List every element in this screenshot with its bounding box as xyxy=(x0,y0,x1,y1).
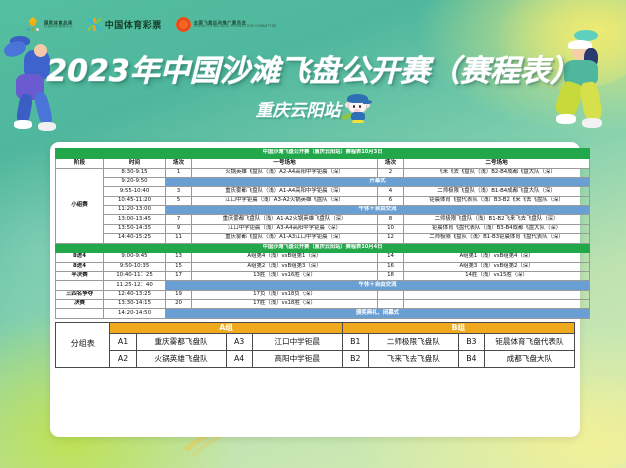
olympic-rings-icon xyxy=(26,17,41,32)
match-no-cell: 14 xyxy=(378,253,404,262)
section-title-day2: 中国沙滩飞盘公开赛（重庆云阳站）赛程表10月4日 xyxy=(56,243,590,253)
page-title-wrap: 2023年中国沙滩飞盘公开赛（赛程表） xyxy=(0,46,626,90)
page-title: 2023年中国沙滩飞盘公开赛（赛程表） xyxy=(46,54,580,89)
schedule-section-title-row: 中国沙滩飞盘公开赛（重庆云阳站）赛程表10月4日 xyxy=(56,243,590,253)
group-a-header: A组 xyxy=(110,322,342,333)
schedule-row: 11:20-13:00午休＋自由交流 xyxy=(56,206,590,215)
break-cell: 开幕式 xyxy=(166,177,590,186)
match-no-cell: 15 xyxy=(166,262,192,271)
team-code: B1 xyxy=(342,333,368,350)
time-cell: 13:30-14:15 xyxy=(104,300,166,309)
field2-cell: 钜晨体育飞盘代表队（浅）B3-B4成都飞盘大队（深） xyxy=(404,224,590,233)
field1-cell: A组第2（浅）vsB组第3（深） xyxy=(192,262,378,271)
schedule-card: 中国沙滩飞盘公开赛（重庆云阳站）赛程表10月3日阶段时间场次一号场地场次二号场地… xyxy=(50,142,580,437)
team-name: 成都飞盘大队 xyxy=(484,350,574,367)
match-no-cell: 1 xyxy=(166,168,192,177)
time-cell: 9:20-9:50 xyxy=(104,177,166,186)
break-cell: 颁奖典礼、闭幕式 xyxy=(166,309,590,318)
stage-label-group: 小组赛 xyxy=(56,168,104,243)
team-code: A2 xyxy=(110,350,136,367)
schedule-column-header-row: 阶段时间场次一号场地场次二号场地 xyxy=(56,158,590,168)
team-name: 二师极限飞盘队 xyxy=(368,333,458,350)
match-no-cell: 20 xyxy=(166,300,192,309)
schedule-row: 小组赛8:30-9:151火锅英雄飞盘队（浅）A2-A4高阳中学钜晨（深）2飞来… xyxy=(56,168,590,177)
schedule-row: 14:40-15:2511重庆雾都飞盘队（浅）A1-A3江口中学钜晨（深）12二… xyxy=(56,234,590,243)
team-name: 火锅英雄飞盘队 xyxy=(136,350,226,367)
schedule-row: 9:55-10:403重庆雾都飞盘队（浅）A1-A4高阳中学钜晨（深）4二师极限… xyxy=(56,187,590,196)
schedule-section-title-row: 中国沙滩飞盘公开赛（重庆云阳站）赛程表10月3日 xyxy=(56,149,590,159)
group-table: 分组表A组B组A1重庆雾都飞盘队A3江口中学钜晨B1二师极限飞盘队B3钜晨体育飞… xyxy=(55,322,575,368)
schedule-row: 三四名争夺12:40-13:251917负（浅）vs18负（深） xyxy=(56,290,590,299)
column-header-2: 场次 xyxy=(166,158,192,168)
column-header-4: 场次 xyxy=(378,158,404,168)
mascot-icon xyxy=(345,93,371,123)
time-cell: 8:30-9:15 xyxy=(104,168,166,177)
schedule-row: 14:20-14:50颁奖典礼、闭幕式 xyxy=(56,309,590,318)
logo-flying-disc-committee: 全国飞盘运动推广委员会 CHINA FLYING DISC PROMOTION … xyxy=(176,17,277,32)
schedule-row: 13:50-14:359江口中学钜晨（浅）A3-A4高阳中学钜晨（深）10钜晨体… xyxy=(56,224,590,233)
field2-cell: 二师极限飞盘队（浅）B1-B2飞来飞去飞盘队（深） xyxy=(404,215,590,224)
field2-cell: A组第1（浅）vsB组第4（深） xyxy=(404,253,590,262)
team-code: B2 xyxy=(342,350,368,367)
field2-cell: 二师极限飞盘队（浅）B1-B3钜晨体育飞盘代表队（深） xyxy=(404,234,590,243)
team-code: B4 xyxy=(458,350,484,367)
time-cell: 10:40-11：25 xyxy=(104,271,166,280)
time-cell: 11:20-13:00 xyxy=(104,206,166,215)
logo-china-sports-lottery: 中国体育彩票 xyxy=(87,17,162,32)
time-cell: 9:50-10:35 xyxy=(104,262,166,271)
stage-cell: 半决赛 xyxy=(56,271,104,280)
team-code: B3 xyxy=(458,333,484,350)
match-no-cell: 9 xyxy=(166,224,192,233)
schedule-row: 11:25-12：40午休＋自由交流 xyxy=(56,281,590,290)
match-no-cell: 16 xyxy=(378,262,404,271)
field2-cell: 14胜（浅）vs15胜（深） xyxy=(404,271,590,280)
field1-cell: 火锅英雄飞盘队（浅）A2-A4高阳中学钜晨（深） xyxy=(192,168,378,177)
match-no-cell xyxy=(378,300,404,309)
time-cell: 10:45-11:20 xyxy=(104,196,166,205)
field1-cell: 17负（浅）vs18负（深） xyxy=(192,290,378,299)
match-no-cell: 18 xyxy=(378,271,404,280)
team-name: 钜晨体育飞盘代表队 xyxy=(484,333,574,350)
schedule-row: 9:20-9:50开幕式 xyxy=(56,177,590,186)
field2-cell xyxy=(404,290,590,299)
field2-cell: 飞来飞去飞盘队（浅）B2-B4成都飞盘大队（深） xyxy=(404,168,590,177)
field1-cell: 13胜（浅）vs16胜（深） xyxy=(192,271,378,280)
schedule-row: 8进49:50-10:3515A组第2（浅）vsB组第3（深）16A组第3（浅）… xyxy=(56,262,590,271)
break-cell: 午休＋自由交流 xyxy=(166,206,590,215)
team-name: 飞来飞去飞盘队 xyxy=(368,350,458,367)
match-no-cell xyxy=(378,290,404,299)
schedule-row: 10:45-11:205江口中学钜晨（浅）A3-A2火锅英雄飞盘队（深）6钜晨体… xyxy=(56,196,590,205)
page-subtitle: 重庆云阳站 xyxy=(256,96,341,121)
stage-cell xyxy=(56,309,104,318)
logo-gaa-social-sports-center: 国家体育总局 社会体育指导中心 xyxy=(26,17,73,32)
match-no-cell: 17 xyxy=(166,271,192,280)
stage-cell: 决赛 xyxy=(56,300,104,309)
time-cell: 13:00-13:45 xyxy=(104,215,166,224)
schedule-row: 决赛13:30-14:152017胜（浅）vs18胜（深） xyxy=(56,300,590,309)
section-title-day1: 中国沙滩飞盘公开赛（重庆云阳站）赛程表10月3日 xyxy=(56,149,590,159)
group-team-row: A2火锅英雄飞盘队A4高阳中学钜晨B2飞来飞去飞盘队B4成都飞盘大队 xyxy=(56,350,575,367)
schedule-table: 中国沙滩飞盘公开赛（重庆云阳站）赛程表10月3日阶段时间场次一号场地场次二号场地… xyxy=(55,148,590,319)
column-header-0: 阶段 xyxy=(56,158,104,168)
logo-2-text: 中国体育彩票 xyxy=(105,18,162,31)
column-header-5: 二号场地 xyxy=(404,158,590,168)
stage-cell: 三四名争夺 xyxy=(56,290,104,299)
stage-cell: 8进4 xyxy=(56,253,104,262)
field1-cell: 17胜（浅）vs18胜（深） xyxy=(192,300,378,309)
match-no-cell: 5 xyxy=(166,196,192,205)
logo-3-line2: CHINA FLYING DISC PROMOTION COMMITTEE xyxy=(194,25,277,29)
match-no-cell: 6 xyxy=(378,196,404,205)
field2-cell: A组第3（浅）vsB组第2（深） xyxy=(404,262,590,271)
field2-cell: 二师极限飞盘队（浅）B1-B4成都飞盘大队（深） xyxy=(404,187,590,196)
team-name: 高阳中学钜晨 xyxy=(252,350,342,367)
group-table-label: 分组表 xyxy=(56,322,110,367)
field2-cell xyxy=(404,300,590,309)
team-code: A1 xyxy=(110,333,136,350)
team-code: A3 xyxy=(226,333,252,350)
field1-cell: 重庆雾都飞盘队（浅）A1-A3江口中学钜晨（深） xyxy=(192,234,378,243)
field1-cell: 重庆雾都飞盘队（浅）A1-A4高阳中学钜晨（深） xyxy=(192,187,378,196)
field1-cell: A组第4（浅）vsB组第1（深） xyxy=(192,253,378,262)
match-no-cell: 12 xyxy=(378,234,404,243)
column-header-3: 一号场地 xyxy=(192,158,378,168)
schedule-row: 13:00-13:457重庆雾都飞盘队（浅）A1-A2火锅英雄飞盘队（深）8二师… xyxy=(56,215,590,224)
group-b-header: B组 xyxy=(342,322,574,333)
match-no-cell: 19 xyxy=(166,290,192,299)
time-cell: 11:25-12：40 xyxy=(104,281,166,290)
group-team-row: A1重庆雾都飞盘队A3江口中学钜晨B1二师极限飞盘队B3钜晨体育飞盘代表队 xyxy=(56,333,575,350)
sponsor-logo-bar: 国家体育总局 社会体育指导中心 中国体育彩票 全国飞盘运动推广委员会 CHINA… xyxy=(26,17,277,32)
stage-cell: 8进4 xyxy=(56,262,104,271)
page-subtitle-wrap: 重庆云阳站 xyxy=(0,93,626,123)
schedule-row: 半决赛10:40-11：251713胜（浅）vs16胜（深）1814胜（浅）vs… xyxy=(56,271,590,280)
match-no-cell: 11 xyxy=(166,234,192,243)
field1-cell: 江口中学钜晨（浅）A3-A2火锅英雄飞盘队（深） xyxy=(192,196,378,205)
time-cell: 14:40-15:25 xyxy=(104,234,166,243)
match-no-cell: 2 xyxy=(378,168,404,177)
team-code: A4 xyxy=(226,350,252,367)
time-cell: 14:20-14:50 xyxy=(104,309,166,318)
match-no-cell: 7 xyxy=(166,215,192,224)
time-cell: 13:50-14:35 xyxy=(104,224,166,233)
group-header-row: 分组表A组B组 xyxy=(56,322,575,333)
match-no-cell: 3 xyxy=(166,187,192,196)
field1-cell: 重庆雾都飞盘队（浅）A1-A2火锅英雄飞盘队（深） xyxy=(192,215,378,224)
team-name: 重庆雾都飞盘队 xyxy=(136,333,226,350)
match-no-cell: 10 xyxy=(378,224,404,233)
logo-1-line2: 社会体育指导中心 xyxy=(44,25,73,29)
field1-cell: 江口中学钜晨（浅）A3-A4高阳中学钜晨（深） xyxy=(192,224,378,233)
time-cell: 12:40-13:25 xyxy=(104,290,166,299)
break-cell: 午休＋自由交流 xyxy=(166,281,590,290)
sports-lottery-icon xyxy=(87,17,102,32)
match-no-cell: 13 xyxy=(166,253,192,262)
time-cell: 9:55-10:40 xyxy=(104,187,166,196)
schedule-row: 8进49:00-9:4513A组第4（浅）vsB组第1（深）14A组第1（浅）v… xyxy=(56,253,590,262)
column-header-1: 时间 xyxy=(104,158,166,168)
team-name: 江口中学钜晨 xyxy=(252,333,342,350)
time-cell: 9:00-9:45 xyxy=(104,253,166,262)
match-no-cell: 8 xyxy=(378,215,404,224)
field2-cell: 钜晨体育飞盘代表队（浅）B3-B2飞来飞去飞盘队（深） xyxy=(404,196,590,205)
flying-disc-committee-icon xyxy=(176,17,191,32)
match-no-cell: 4 xyxy=(378,187,404,196)
stage-cell xyxy=(56,281,104,290)
